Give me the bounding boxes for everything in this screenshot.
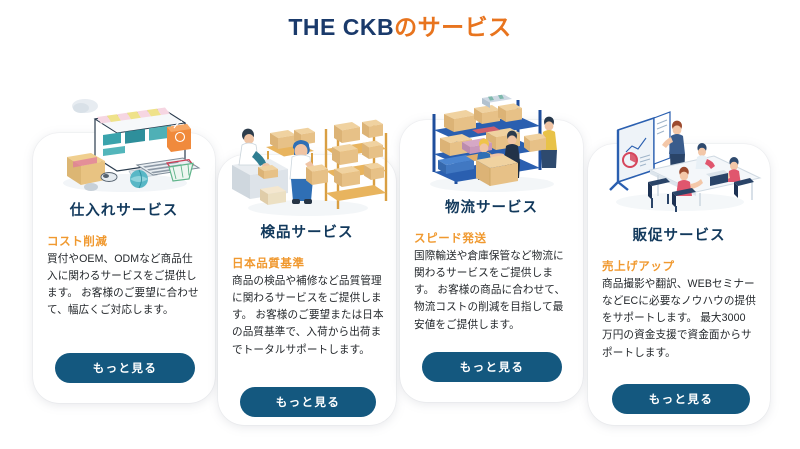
- page-title: THE CKBのサービス: [0, 8, 800, 42]
- more-button[interactable]: もっと見る: [55, 353, 195, 383]
- card-subtitle: 売上げアップ: [602, 258, 675, 274]
- card-title: 販促サービス: [588, 224, 770, 245]
- card-subtitle: スピード発送: [414, 230, 487, 246]
- card-body-text: 買付やOEM、ODMなど商品仕入に関わるサービスをご提供します。 お客様のご要望…: [47, 251, 201, 320]
- card-title: 検品サービス: [218, 221, 396, 242]
- warehouse-inspection-workers-icon: [218, 113, 396, 218]
- page-title-main: THE CKB: [288, 14, 394, 40]
- card-title: 仕入れサービス: [33, 199, 215, 220]
- service-card-promotion[interactable]: 販促サービス 売上げアップ 商品撮影や翻訳、WEBセミナーなどECに必要なノウハ…: [588, 144, 770, 425]
- card-subtitle: 日本品質基準: [232, 255, 305, 271]
- card-body-text: 商品撮影や翻訳、WEBセミナーなどECに必要なノウハウの提供をサポートします。 …: [602, 276, 756, 362]
- more-button[interactable]: もっと見る: [422, 352, 562, 382]
- card-subtitle: コスト削減: [47, 233, 108, 249]
- warehouse-racking-logistics-icon: [400, 88, 583, 193]
- card-title: 物流サービス: [400, 196, 583, 217]
- card-body-text: 商品の検品や補修など品質管理に関わるサービスをご提供します。 お客様のご要望また…: [232, 273, 386, 359]
- more-button[interactable]: もっと見る: [612, 384, 750, 414]
- meeting-presentation-seminar-icon: [588, 108, 770, 213]
- page-title-accent: のサービス: [394, 14, 512, 40]
- more-button[interactable]: もっと見る: [240, 387, 376, 417]
- card-body-text: 国際輸送や倉庫保管など物流に関わるサービスをご提供します。 お客様の商品に合わせ…: [414, 248, 568, 334]
- service-card-purchasing[interactable]: 仕入れサービス コスト削減 買付やOEM、ODMなど商品仕入に関わるサービスをご…: [33, 133, 215, 403]
- service-card-logistics[interactable]: 物流サービス スピード発送 国際輸送や倉庫保管など物流に関わるサービスをご提供し…: [400, 120, 583, 402]
- service-card-inspection[interactable]: 検品サービス 日本品質基準 商品の検品や補修など品質管理に関わるサービスをご提供…: [218, 155, 396, 425]
- ecommerce-shop-computer-icon: [33, 91, 215, 196]
